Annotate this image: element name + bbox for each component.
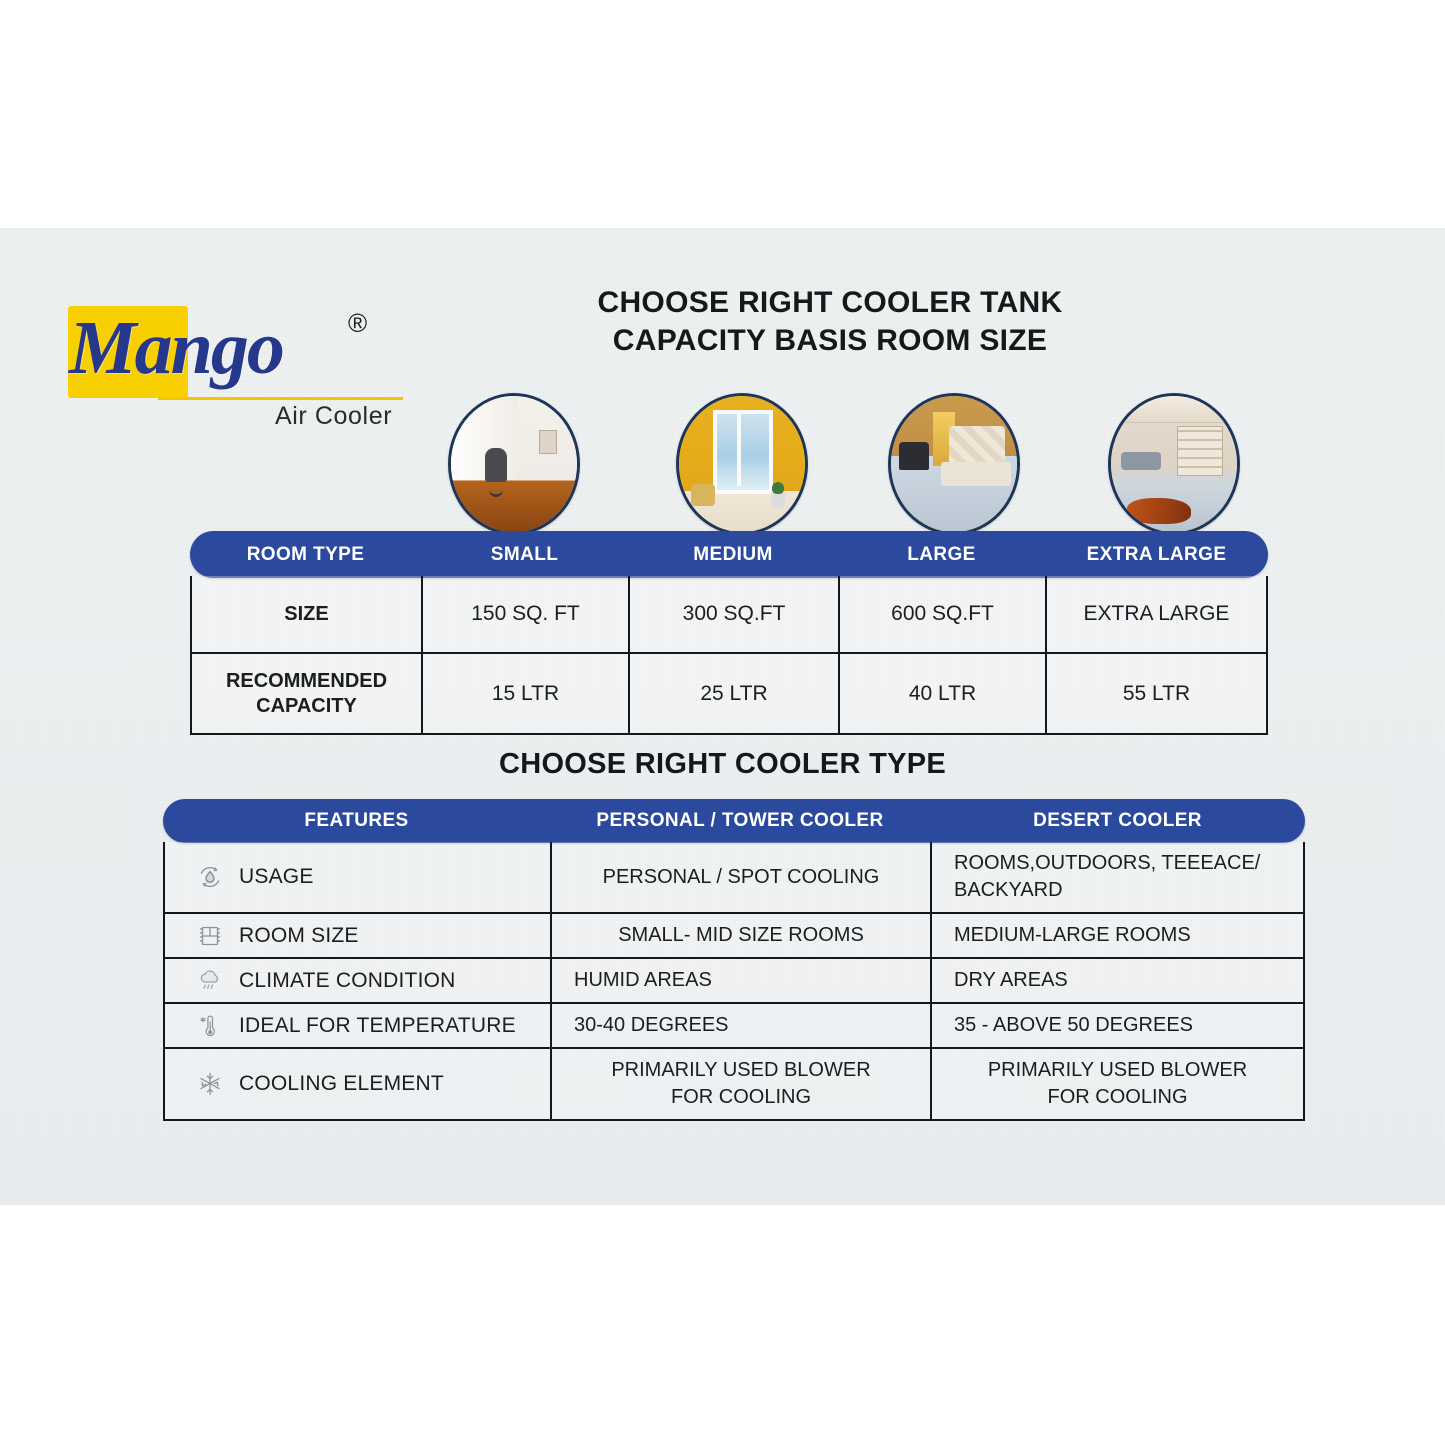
table-row-room-size: ROOM SIZE SMALL- MID SIZE ROOMS MEDIUM-L… — [165, 914, 1303, 959]
feature-label-climate-condition: CLIMATE CONDITION — [239, 969, 456, 993]
snowflake-icon — [195, 1069, 225, 1099]
table-row-climate-condition: CLIMATE CONDITION HUMID AREAS DRY AREAS — [165, 959, 1303, 1004]
page-title: CHOOSE RIGHT COOLER TANK CAPACITY BASIS … — [520, 284, 1140, 360]
cooler-type-table-header: FEATURES PERSONAL / TOWER COOLER DESERT … — [163, 799, 1305, 843]
feature-label-usage: USAGE — [239, 865, 314, 889]
cell-size-extra-large: EXTRA LARGE — [1047, 576, 1266, 652]
thermometer-snowflake-icon — [195, 1011, 225, 1041]
cell-cooling-personal-line-2: FOR COOLING — [611, 1084, 870, 1111]
cell-size-small: 150 SQ. FT — [423, 576, 630, 652]
feature-label-ideal-for-temperature: IDEAL FOR TEMPERATURE — [239, 1014, 516, 1038]
room-photo-strip — [448, 393, 1268, 531]
row-label-size: SIZE — [192, 576, 423, 652]
feature-cooling-element: COOLING ELEMENT — [165, 1049, 552, 1119]
feature-climate-condition: CLIMATE CONDITION — [165, 959, 552, 1002]
room-plan-icon — [195, 921, 225, 951]
cell-capacity-medium: 25 LTR — [630, 654, 840, 733]
large-room-photo — [888, 393, 1020, 535]
feature-ideal-for-temperature: IDEAL FOR TEMPERATURE — [165, 1004, 552, 1047]
cell-size-large: 600 SQ.FT — [840, 576, 1047, 652]
rain-cloud-icon — [195, 966, 225, 996]
cell-cooling-desert-line-2: FOR COOLING — [988, 1084, 1247, 1111]
cell-temperature-desert: 35 - ABOVE 50 DEGREES — [932, 1004, 1303, 1047]
header-small: SMALL — [421, 544, 628, 566]
feature-label-cooling-element: COOLING ELEMENT — [239, 1072, 444, 1096]
cell-climate-desert: DRY AREAS — [932, 959, 1303, 1002]
feature-label-room-size: ROOM SIZE — [239, 924, 359, 948]
table-row-usage: USAGE PERSONAL / SPOT COOLING ROOMS,OUTD… — [165, 842, 1303, 914]
header-room-type: ROOM TYPE — [190, 544, 421, 566]
cell-cooling-personal-line-1: PRIMARILY USED BLOWER — [611, 1057, 870, 1084]
extra-large-room-photo — [1108, 393, 1240, 535]
cell-capacity-small: 15 LTR — [423, 654, 630, 733]
header-features: FEATURES — [163, 810, 550, 832]
cell-usage-desert-line-1: ROOMS,OUTDOORS, TEEEACE/ — [954, 850, 1260, 877]
medium-room-photo — [676, 393, 808, 535]
small-room-photo — [448, 393, 580, 535]
header-personal-tower-cooler: PERSONAL / TOWER COOLER — [550, 810, 930, 832]
header-extra-large: EXTRA LARGE — [1045, 544, 1268, 566]
header-large: LARGE — [838, 544, 1045, 566]
cell-room-size-personal: SMALL- MID SIZE ROOMS — [552, 914, 932, 957]
cell-capacity-large: 40 LTR — [840, 654, 1047, 733]
row-label-line-1: RECOMMENDED — [226, 669, 387, 694]
registered-trademark-icon: ® — [348, 308, 367, 339]
cell-room-size-desert: MEDIUM-LARGE ROOMS — [932, 914, 1303, 957]
header-medium: MEDIUM — [628, 544, 838, 566]
row-label-recommended-capacity: RECOMMENDED CAPACITY — [192, 654, 423, 733]
table-row-cooling-element: COOLING ELEMENT PRIMARILY USED BLOWER FO… — [165, 1049, 1303, 1119]
brand-tagline: Air Cooler — [275, 402, 392, 431]
infographic-canvas: Mango ® Air Cooler CHOOSE RIGHT COOLER T… — [0, 0, 1445, 1445]
cell-capacity-extra-large: 55 LTR — [1047, 654, 1266, 733]
row-label-line-2: CAPACITY — [256, 694, 357, 719]
cell-usage-personal: PERSONAL / SPOT COOLING — [552, 842, 932, 912]
cooler-type-table: FEATURES PERSONAL / TOWER COOLER DESERT … — [163, 799, 1305, 1121]
cell-usage-desert-line-2: BACKYARD — [954, 877, 1260, 904]
feature-usage: USAGE — [165, 842, 552, 912]
brand-logo: Mango ® Air Cooler — [63, 298, 423, 423]
feature-room-size: ROOM SIZE — [165, 914, 552, 957]
cell-temperature-personal: 30-40 DEGREES — [552, 1004, 932, 1047]
cell-climate-personal: HUMID AREAS — [552, 959, 932, 1002]
water-drop-recycle-icon — [195, 862, 225, 892]
table-row-size: SIZE 150 SQ. FT 300 SQ.FT 600 SQ.FT EXTR… — [192, 576, 1266, 654]
section-title-cooler-type: CHOOSE RIGHT COOLER TYPE — [0, 748, 1445, 781]
logo-underline — [158, 397, 403, 400]
cell-cooling-element-personal: PRIMARILY USED BLOWER FOR COOLING — [552, 1049, 932, 1119]
cell-size-medium: 300 SQ.FT — [630, 576, 840, 652]
page-title-line-2: CAPACITY BASIS ROOM SIZE — [520, 322, 1140, 360]
page-title-line-1: CHOOSE RIGHT COOLER TANK — [520, 284, 1140, 322]
room-size-table: ROOM TYPE SMALL MEDIUM LARGE EXTRA LARGE… — [190, 531, 1268, 735]
header-desert-cooler: DESERT COOLER — [930, 810, 1305, 832]
cell-cooling-element-desert: PRIMARILY USED BLOWER FOR COOLING — [932, 1049, 1303, 1119]
cell-cooling-desert-line-1: PRIMARILY USED BLOWER — [988, 1057, 1247, 1084]
room-size-table-header: ROOM TYPE SMALL MEDIUM LARGE EXTRA LARGE — [190, 531, 1268, 578]
table-row-ideal-for-temperature: IDEAL FOR TEMPERATURE 30-40 DEGREES 35 -… — [165, 1004, 1303, 1049]
table-row-recommended-capacity: RECOMMENDED CAPACITY 15 LTR 25 LTR 40 LT… — [192, 654, 1266, 733]
logo-wordmark: Mango — [69, 300, 283, 396]
cell-usage-desert: ROOMS,OUTDOORS, TEEEACE/ BACKYARD — [932, 842, 1303, 912]
